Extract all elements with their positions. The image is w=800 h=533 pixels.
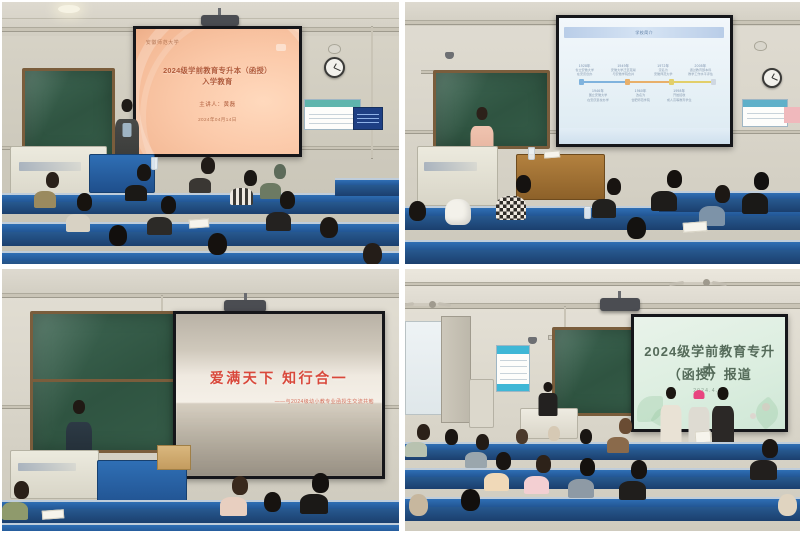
photo-bottom-left: 爱满天下 知行合一 ——与2024级幼小教专业函授生交流共勉: [2, 269, 399, 531]
poster-line: [309, 118, 356, 119]
desk-row: [405, 468, 800, 489]
poster-line: [309, 123, 356, 124]
ceiling-lamp: [58, 5, 80, 13]
water-bottle: [528, 147, 535, 160]
desk-row: [2, 193, 399, 214]
audience-head: [46, 172, 59, 188]
staff-body: [538, 393, 557, 415]
desk-row-side: [335, 178, 399, 196]
ceiling: [2, 269, 399, 295]
desk-row: [2, 523, 399, 531]
desk-top: [2, 523, 399, 531]
poster-footer: [497, 384, 529, 391]
audience-torso: [742, 193, 768, 214]
lectern: [516, 154, 605, 201]
presenter-head: [122, 99, 133, 112]
audience-head: [264, 492, 281, 512]
photo-bottom-right: 2024级学前教育专升本 （函授）报道 2024.4.14: [405, 269, 800, 531]
audience-torso: [750, 460, 777, 480]
poster-line: [747, 113, 784, 114]
audience-torso: [524, 476, 549, 494]
desk-front: [2, 202, 399, 214]
desk-paper: [683, 221, 708, 233]
desk-front: [405, 477, 800, 489]
audience-head: [631, 460, 647, 479]
desk-row: [2, 251, 399, 264]
poster-line: [500, 366, 527, 367]
photo-top-right: 学校简介 1928年 省立安徽大学在安庆创办: [405, 2, 800, 264]
wall-poster: [742, 99, 788, 127]
slide-header-title: 学校简介: [564, 30, 724, 36]
wall-clock-icon: [324, 57, 345, 78]
slide-date: 2024年04月14日: [143, 117, 293, 123]
dome-camera-icon: [328, 44, 341, 54]
projector: [201, 15, 239, 26]
desk-paper: [41, 509, 64, 520]
student-head: [666, 387, 676, 399]
audience-head: [232, 476, 248, 495]
audience-head: [280, 191, 295, 209]
audience-torso: [300, 494, 328, 514]
audience-head: [320, 217, 338, 238]
student-hat-pink: [693, 390, 704, 399]
photo-top-left: 安徽师范大学 2024级学前教育专升本（函授） 入学教育 主讲人：黄磊 2024…: [2, 2, 399, 264]
water-bottle: [151, 157, 158, 170]
audience-torso: [2, 502, 28, 520]
slide-presenter: 主讲人：黄磊: [143, 100, 293, 108]
timeline-segment: [669, 81, 713, 83]
audience-torso: [405, 442, 427, 457]
audience-head: [312, 473, 329, 493]
blackboard-divider: [30, 379, 173, 382]
equipment-cabinet: [417, 146, 498, 206]
audience-torso: [230, 188, 253, 205]
slide-title-line2: 入学教育: [143, 77, 293, 88]
cardboard-box: [157, 445, 191, 471]
audience-head: [667, 170, 682, 188]
timeline-text: 开始招收成人高等教育学生: [656, 93, 702, 102]
projection-screen-frame: 安徽师范大学 2024级学前教育专升本（函授） 入学教育 主讲人：黄磊 2024…: [133, 26, 302, 158]
desk-front: [405, 250, 800, 264]
audience-head: [476, 434, 489, 450]
timeline-node: [669, 79, 674, 85]
audience-torso: [496, 196, 526, 220]
audience-head: [580, 458, 595, 476]
wall-notice-pink: [784, 107, 800, 123]
slide-title: 爱满天下 知行合一: [184, 368, 374, 388]
poster-line: [500, 379, 527, 380]
projector: [600, 298, 640, 311]
audience-head: [77, 193, 92, 211]
audience-head: [409, 494, 428, 516]
timeline-text: 通过教育部本科教学工作水平评估: [678, 68, 724, 77]
poster-line: [500, 360, 527, 361]
presenter-shirt: [123, 123, 132, 137]
wall-vent: [469, 379, 495, 428]
water-bottle: [584, 206, 591, 219]
slide-title: 2024级学前教育专升本（函授） 入学教育: [143, 66, 293, 87]
audience-head: [496, 452, 511, 470]
projection-screen-frame: 学校简介 1928年 省立安徽大学在安庆创办: [556, 15, 733, 147]
projection-screen: 爱满天下 知行合一 ——与2024级幼小教专业函授生交流共勉: [176, 314, 382, 476]
timeline-segment: [625, 81, 669, 83]
poster-line: [500, 373, 527, 374]
vertical-conduit: [371, 26, 373, 159]
slide-logo-text: 安徽师范大学: [146, 39, 180, 46]
student-head: [717, 387, 728, 400]
wall-notice-blue: [353, 107, 383, 130]
photo-collage: 安徽师范大学 2024级学前教育专升本（函授） 入学教育 主讲人：黄磊 2024…: [0, 0, 800, 533]
slide-photo-backdrop: [176, 403, 382, 476]
security-camera-icon: [445, 52, 454, 59]
slide-badge: [276, 44, 286, 51]
presenter-figure: [109, 99, 145, 162]
wall-column: [441, 316, 471, 423]
slide-footer-band: [559, 128, 730, 144]
projection-screen-frame: 爱满天下 知行合一 ——与2024级幼小教专业函授生交流共勉: [173, 311, 385, 479]
audience-head: [548, 426, 560, 441]
audience-head: [363, 243, 382, 264]
audience-head: [208, 233, 227, 255]
wall-poster: [496, 345, 530, 392]
cabinet-logo: [18, 463, 76, 471]
projection-screen: 学校简介 1928年 省立安徽大学在安庆创办: [559, 18, 730, 144]
slide-title-line2: （函授）报道: [639, 364, 781, 383]
slide-top-left: 安徽师范大学 2024级学前教育专升本（函授） 入学教育 主讲人：黄磊 2024…: [136, 29, 299, 155]
timeline-segment: [579, 81, 624, 83]
cabinet-logo: [19, 162, 82, 171]
desk-row: [405, 240, 800, 264]
audience-head: [778, 494, 797, 516]
audience-torso: [592, 199, 616, 218]
audience-head: [409, 201, 426, 221]
audience-head: [627, 217, 646, 239]
ceiling-fan-hub: [429, 301, 436, 308]
poster-header: [497, 346, 529, 354]
audience-head: [417, 424, 430, 440]
presenter-head: [73, 400, 85, 414]
audience-torso: [189, 178, 211, 193]
presenter-head: [477, 107, 488, 120]
staff-figure: [532, 382, 564, 416]
timeline-item-above: 2005年 通过教育部本科教学工作水平评估: [678, 63, 724, 77]
audience-head: [754, 172, 769, 190]
audience-torso: [34, 191, 56, 208]
desk-front: [659, 199, 800, 211]
slide-bottom-left: 爱满天下 知行合一 ——与2024级幼小教专业函授生交流共勉: [176, 314, 382, 476]
poster-line: [309, 114, 356, 115]
timeline-axis: 1928年 省立安徽大学在安庆创办 1949年 安徽大学迁至芜湖与安徽学院合并 …: [579, 81, 712, 83]
desk-front: [2, 261, 399, 264]
slide-title-line1: 2024级学前教育专升本（函授）: [143, 66, 293, 77]
audience-torso: [568, 479, 594, 498]
timeline-item-below: 1998年 开始招收成人高等教育学生: [656, 88, 702, 102]
timeline-item-below: 1946年 国立安徽大学在安庆复校办学: [575, 88, 621, 102]
timeline-node: [579, 79, 584, 85]
cabinet-logo: [424, 162, 476, 171]
timeline-node: [711, 79, 716, 85]
slide-subtitle: ——与2024级幼小教专业函授生交流共勉: [196, 398, 374, 405]
audience-head: [580, 429, 592, 444]
audience-head: [762, 439, 778, 458]
poster-line: [747, 118, 784, 119]
projection-screen: 安徽师范大学 2024级学前教育专升本（函授） 入学教育 主讲人：黄磊 2024…: [136, 29, 299, 155]
audience-torso: [484, 473, 509, 491]
audience-torso: [266, 212, 291, 231]
slide-top-right: 学校简介 1928年 省立安徽大学在安庆创办: [559, 18, 730, 144]
desk-front: [335, 185, 399, 196]
student-standing: [707, 387, 739, 447]
window: [405, 321, 443, 415]
audience-torso: [66, 214, 90, 232]
audience-head: [715, 185, 730, 203]
ceiling-pipe: [2, 293, 399, 298]
slide-decoration-swirl-2: [140, 29, 298, 155]
poster-header: [305, 100, 361, 107]
audience-torso: [125, 185, 147, 201]
audience-torso: [260, 183, 281, 199]
white-bag: [445, 199, 471, 225]
audience-head: [445, 429, 458, 445]
poster-header: [743, 100, 787, 107]
audience-torso: [147, 217, 172, 235]
audience-head: [244, 170, 257, 186]
audience-torso: [651, 191, 677, 211]
audience-head: [536, 455, 551, 473]
staff-head: [543, 382, 552, 392]
audience-head: [516, 175, 531, 193]
audience-head: [607, 178, 621, 195]
audience-head: [274, 164, 286, 179]
audience-head: [161, 196, 176, 214]
audience-torso: [619, 481, 646, 500]
slide-leaf-decoration: [750, 396, 784, 429]
audience-torso: [607, 437, 629, 453]
audience-head: [619, 418, 632, 434]
audience-head: [201, 157, 215, 174]
audience-head: [461, 489, 480, 511]
ceiling-beam: [405, 282, 800, 286]
timeline-node: [625, 79, 630, 85]
audience-head: [137, 164, 151, 181]
timeline-text: 国立安徽大学在安庆复校办学: [575, 93, 621, 102]
audience-head: [14, 481, 29, 499]
audience-head: [516, 429, 528, 444]
blackboard: [22, 68, 115, 158]
audience-head: [109, 225, 127, 246]
slide-header-bar: 学校简介: [564, 27, 724, 38]
audience-torso: [220, 497, 247, 516]
desk-front: [2, 232, 399, 246]
student-body: [660, 405, 681, 444]
wall-clock-icon: [762, 68, 782, 88]
audience-torso: [465, 452, 487, 468]
